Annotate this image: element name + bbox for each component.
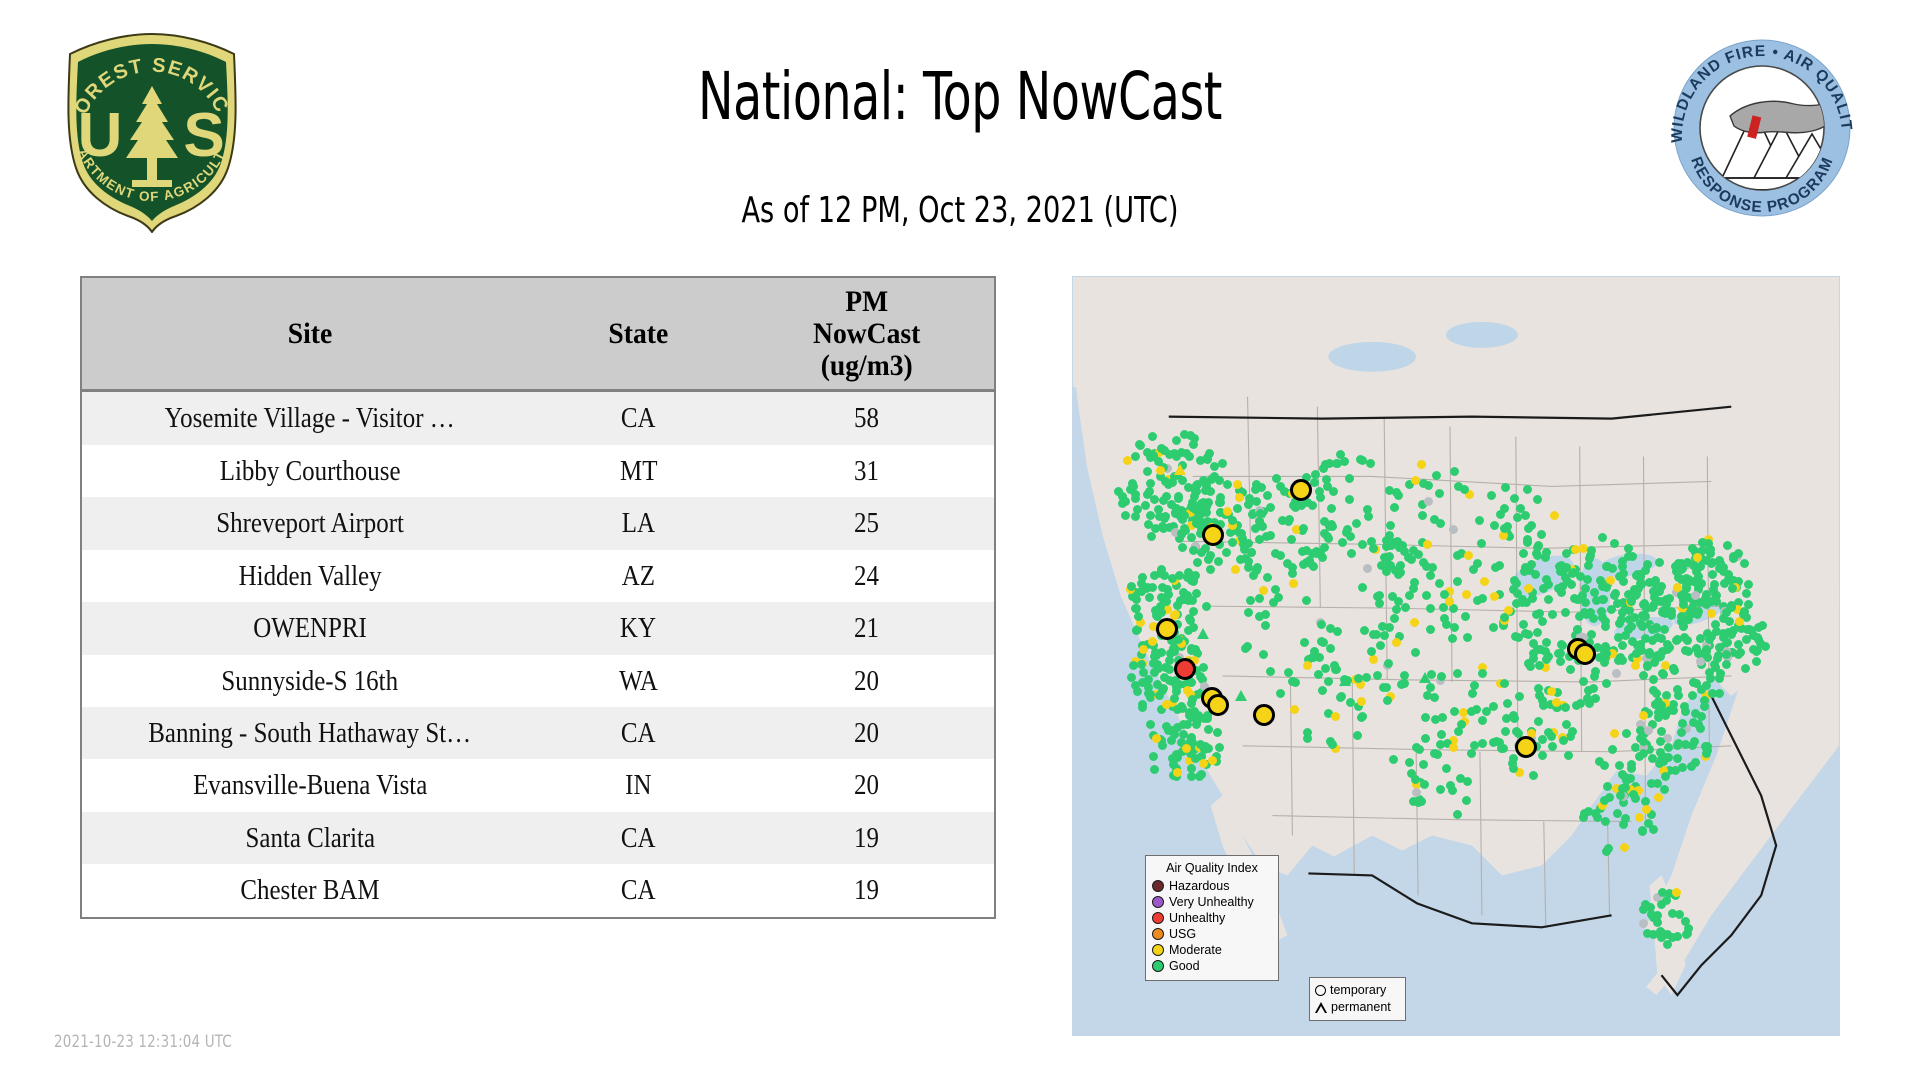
map-monitor-dot[interactable] (1618, 641, 1627, 650)
map-monitor-dot[interactable] (1356, 455, 1365, 464)
map-monitor-dot[interactable] (1511, 632, 1520, 641)
map-monitor-dot[interactable] (1537, 530, 1546, 539)
map-monitor-dot[interactable] (1420, 780, 1429, 789)
map-monitor-dot[interactable] (1744, 580, 1753, 589)
map-monitor-dot[interactable] (1246, 596, 1255, 605)
map-monitor-dot[interactable] (1615, 761, 1624, 770)
map-monitor-dot[interactable] (1137, 587, 1146, 596)
map-monitor-dot[interactable] (1256, 509, 1265, 518)
map-monitor-dot[interactable] (1319, 464, 1328, 473)
map-monitor-dot[interactable] (1158, 686, 1167, 695)
map-monitor-dot[interactable] (1327, 504, 1336, 513)
map-top-site-marker[interactable] (1290, 479, 1312, 501)
map-monitor-dot[interactable] (1255, 517, 1264, 526)
map-monitor-dot[interactable] (1696, 724, 1705, 733)
map-monitor-dot[interactable] (1510, 494, 1519, 503)
map-monitor-dot[interactable] (1183, 686, 1192, 695)
map-monitor-dot[interactable] (1390, 614, 1399, 623)
map-monitor-dot[interactable] (1478, 739, 1487, 748)
map-monitor-dot[interactable] (1376, 641, 1385, 650)
map-monitor-dot[interactable] (1618, 656, 1627, 665)
map-monitor-dot[interactable] (1662, 600, 1671, 609)
map-monitor-dot[interactable] (1715, 689, 1724, 698)
map-monitor-dot[interactable] (1585, 554, 1594, 563)
map-permanent-site-marker[interactable] (1197, 628, 1209, 639)
map-monitor-dot[interactable] (1213, 728, 1222, 737)
map-monitor-dot[interactable] (1422, 591, 1431, 600)
map-monitor-dot[interactable] (1195, 772, 1204, 781)
map-monitor-dot[interactable] (1187, 644, 1196, 653)
map-monitor-dot[interactable] (1712, 627, 1721, 636)
map-monitor-dot[interactable] (1129, 661, 1138, 670)
map-monitor-dot[interactable] (1214, 557, 1223, 566)
map-monitor-dot[interactable] (1193, 558, 1202, 567)
map-monitor-dot[interactable] (1139, 668, 1148, 677)
map-monitor-dot[interactable] (1538, 617, 1547, 626)
map-monitor-dot[interactable] (1369, 655, 1378, 664)
map-monitor-dot[interactable] (1690, 737, 1699, 746)
map-permanent-site-marker[interactable] (1174, 464, 1186, 475)
map-monitor-dot[interactable] (1397, 680, 1406, 689)
map-monitor-dot[interactable] (1521, 511, 1530, 520)
map-monitor-dot[interactable] (1206, 565, 1215, 574)
map-monitor-dot[interactable] (1643, 662, 1652, 671)
map-monitor-dot[interactable] (1391, 566, 1400, 575)
map-monitor-dot[interactable] (1674, 691, 1683, 700)
map-monitor-dot[interactable] (1208, 756, 1217, 765)
map-monitor-dot[interactable] (1535, 661, 1544, 670)
map-monitor-dot[interactable] (1624, 625, 1633, 634)
map-monitor-dot[interactable] (1524, 524, 1533, 533)
map-monitor-dot[interactable] (1138, 703, 1147, 712)
map-top-site-marker[interactable] (1174, 658, 1196, 680)
map-monitor-dot[interactable] (1630, 613, 1639, 622)
map-monitor-dot[interactable] (1421, 713, 1430, 722)
map-monitor-dot[interactable] (1255, 535, 1264, 544)
map-monitor-dot[interactable] (1329, 487, 1338, 496)
map-monitor-dot[interactable] (1571, 545, 1580, 554)
map-monitor-dot[interactable] (1734, 650, 1743, 659)
map-monitor-dot[interactable] (1291, 678, 1300, 687)
map-monitor-dot[interactable] (1500, 613, 1509, 622)
map-monitor-dot[interactable] (1729, 626, 1738, 635)
map-monitor-dot[interactable] (1602, 649, 1611, 658)
map-monitor-dot[interactable] (1345, 495, 1354, 504)
map-monitor-dot[interactable] (1336, 450, 1345, 459)
table-row[interactable]: Banning - South Hathaway St…CA20 (82, 707, 994, 759)
map-monitor-dot[interactable] (1712, 597, 1721, 606)
map-monitor-dot[interactable] (1249, 571, 1258, 580)
map-monitor-dot[interactable] (1202, 602, 1211, 611)
map-monitor-dot[interactable] (1411, 476, 1420, 485)
map-monitor-dot[interactable] (1619, 820, 1628, 829)
map-monitor-dot[interactable] (1619, 577, 1628, 586)
map-monitor-dot[interactable] (1649, 825, 1658, 834)
map-monitor-dot[interactable] (1722, 660, 1731, 669)
map-monitor-dot[interactable] (1148, 583, 1157, 592)
map-monitor-dot[interactable] (1289, 579, 1298, 588)
map-monitor-dot[interactable] (1655, 558, 1664, 567)
map-monitor-dot[interactable] (1509, 764, 1518, 773)
map-monitor-dot[interactable] (1567, 580, 1576, 589)
map-monitor-dot[interactable] (1473, 559, 1482, 568)
map-monitor-dot[interactable] (1665, 706, 1674, 715)
map-monitor-dot[interactable] (1554, 649, 1563, 658)
map-monitor-dot[interactable] (1369, 544, 1378, 553)
map-monitor-dot[interactable] (1499, 744, 1508, 753)
map-monitor-dot[interactable] (1173, 768, 1182, 777)
map-monitor-dot[interactable] (1461, 612, 1470, 621)
map-permanent-site-marker[interactable] (1339, 675, 1351, 686)
map-monitor-dot[interactable] (1259, 586, 1268, 595)
map-monitor-dot[interactable] (1255, 612, 1264, 621)
map-monitor-dot[interactable] (1705, 635, 1714, 644)
map-monitor-dot[interactable] (1263, 573, 1272, 582)
map-monitor-dot[interactable] (1144, 520, 1153, 529)
map-monitor-dot[interactable] (1179, 730, 1188, 739)
map-monitor-dot[interactable] (1714, 651, 1723, 660)
map-monitor-dot[interactable] (1426, 683, 1435, 692)
map-monitor-dot[interactable] (1463, 633, 1472, 642)
map-monitor-dot[interactable] (1314, 670, 1323, 679)
map-monitor-dot[interactable] (1677, 575, 1686, 584)
map-monitor-dot[interactable] (1495, 561, 1504, 570)
map-monitor-dot[interactable] (1467, 707, 1476, 716)
map-monitor-dot[interactable] (1228, 516, 1237, 525)
map-monitor-dot[interactable] (1139, 645, 1148, 654)
map-monitor-dot[interactable] (1457, 720, 1466, 729)
map-monitor-dot[interactable] (1600, 796, 1609, 805)
map-monitor-dot[interactable] (1561, 608, 1570, 617)
map-monitor-dot[interactable] (1342, 528, 1351, 537)
map-monitor-dot[interactable] (1176, 596, 1185, 605)
map-monitor-dot[interactable] (1158, 522, 1167, 531)
map-monitor-dot[interactable] (1619, 569, 1628, 578)
map-monitor-dot[interactable] (1410, 578, 1419, 587)
map-monitor-dot[interactable] (1448, 786, 1457, 795)
map-monitor-dot[interactable] (1432, 471, 1441, 480)
map-monitor-dot[interactable] (1639, 600, 1648, 609)
map-monitor-dot[interactable] (1178, 543, 1187, 552)
map-monitor-dot[interactable] (1170, 647, 1179, 656)
map-monitor-dot[interactable] (1468, 689, 1477, 698)
map-monitor-dot[interactable] (1525, 660, 1534, 669)
map-monitor-dot[interactable] (1316, 493, 1325, 502)
table-row[interactable]: Santa ClaritaCA19 (82, 812, 994, 864)
map-monitor-dot[interactable] (1621, 783, 1630, 792)
map-monitor-dot[interactable] (1442, 764, 1451, 773)
map-monitor-dot[interactable] (1244, 608, 1253, 617)
map-monitor-dot[interactable] (1128, 479, 1137, 488)
map-monitor-dot[interactable] (1559, 736, 1568, 745)
map-monitor-dot[interactable] (1627, 597, 1636, 606)
map-monitor-dot[interactable] (1207, 475, 1216, 484)
map-monitor-dot[interactable] (1639, 919, 1648, 928)
map-monitor-dot[interactable] (1727, 603, 1736, 612)
map-monitor-dot[interactable] (1635, 813, 1644, 822)
map-monitor-dot[interactable] (1707, 609, 1716, 618)
table-row[interactable]: Shreveport AirportLA25 (82, 497, 994, 549)
map-monitor-dot[interactable] (1552, 698, 1561, 707)
map-monitor-dot[interactable] (1436, 785, 1445, 794)
map-monitor-dot[interactable] (1331, 712, 1340, 721)
map-monitor-dot[interactable] (1276, 689, 1285, 698)
map-monitor-dot[interactable] (1626, 774, 1635, 783)
map-monitor-dot[interactable] (1386, 521, 1395, 530)
map-monitor-dot[interactable] (1648, 603, 1657, 612)
column-header-pm-nowcast[interactable]: PM NowCast (ug/m3) (739, 278, 994, 391)
map-monitor-dot[interactable] (1174, 492, 1183, 501)
map-monitor-dot[interactable] (1326, 644, 1335, 653)
map-monitor-dot[interactable] (1602, 562, 1611, 571)
map-monitor-dot[interactable] (1453, 577, 1462, 586)
map-monitor-dot[interactable] (1503, 522, 1512, 531)
map-monitor-dot[interactable] (1547, 732, 1556, 741)
map-monitor-dot[interactable] (1673, 932, 1682, 941)
map-monitor-dot[interactable] (1710, 660, 1719, 669)
map-monitor-dot[interactable] (1159, 595, 1168, 604)
map-top-site-marker[interactable] (1156, 618, 1178, 640)
map-monitor-dot[interactable] (1160, 514, 1169, 523)
map-monitor-dot[interactable] (1729, 552, 1738, 561)
map-monitor-dot[interactable] (1362, 673, 1371, 682)
map-monitor-dot[interactable] (1405, 758, 1414, 767)
map-top-site-marker[interactable] (1207, 694, 1229, 716)
map-monitor-dot[interactable] (1435, 579, 1444, 588)
map-top-site-marker[interactable] (1253, 704, 1275, 726)
map-monitor-dot[interactable] (1462, 796, 1471, 805)
map-monitor-dot[interactable] (1622, 729, 1631, 738)
map-monitor-dot[interactable] (1677, 565, 1686, 574)
map-monitor-dot[interactable] (1639, 671, 1648, 680)
map-monitor-dot[interactable] (1223, 480, 1232, 489)
map-monitor-dot[interactable] (1150, 571, 1159, 580)
map-monitor-dot[interactable] (1149, 752, 1158, 761)
map-monitor-dot[interactable] (1659, 670, 1668, 679)
map-top-site-marker[interactable] (1202, 524, 1224, 546)
map-monitor-dot[interactable] (1595, 757, 1604, 766)
map-monitor-dot[interactable] (1206, 551, 1215, 560)
map-monitor-dot[interactable] (1146, 690, 1155, 699)
map-monitor-dot[interactable] (1161, 477, 1170, 486)
map-monitor-dot[interactable] (1410, 618, 1419, 627)
map-monitor-dot[interactable] (1303, 728, 1312, 737)
map-monitor-dot[interactable] (1450, 623, 1459, 632)
map-monitor-dot[interactable] (1132, 626, 1141, 635)
map-monitor-dot[interactable] (1599, 595, 1608, 604)
column-header-site[interactable]: Site (82, 278, 538, 391)
map-monitor-dot[interactable] (1148, 432, 1157, 441)
map-monitor-dot[interactable] (1306, 559, 1315, 568)
map-monitor-dot[interactable] (1332, 459, 1341, 468)
map-monitor-dot[interactable] (1392, 638, 1401, 647)
map-monitor-dot[interactable] (1263, 491, 1272, 500)
map-monitor-dot[interactable] (1338, 538, 1347, 547)
map-monitor-dot[interactable] (1163, 585, 1172, 594)
map-monitor-dot[interactable] (1453, 551, 1462, 560)
map-monitor-dot[interactable] (1708, 570, 1717, 579)
map-monitor-dot[interactable] (1456, 774, 1465, 783)
map-monitor-dot[interactable] (1664, 743, 1673, 752)
map-monitor-dot[interactable] (1649, 675, 1658, 684)
map-monitor-dot[interactable] (1424, 497, 1433, 506)
map-monitor-dot[interactable] (1127, 673, 1136, 682)
map-monitor-dot[interactable] (1392, 488, 1401, 497)
map-monitor-dot[interactable] (1602, 847, 1611, 856)
map-monitor-dot[interactable] (1421, 734, 1430, 743)
map-monitor-dot[interactable] (1673, 754, 1682, 763)
map-monitor-dot[interactable] (1681, 740, 1690, 749)
map-monitor-dot[interactable] (1215, 498, 1224, 507)
map-monitor-dot[interactable] (1326, 737, 1335, 746)
map-monitor-dot[interactable] (1131, 512, 1140, 521)
map-top-site-marker[interactable] (1574, 643, 1596, 665)
map-monitor-dot[interactable] (1564, 751, 1573, 760)
map-monitor-dot[interactable] (1561, 573, 1570, 582)
map-monitor-dot[interactable] (1533, 495, 1542, 504)
map-monitor-dot[interactable] (1299, 524, 1308, 533)
map-monitor-dot[interactable] (1612, 669, 1621, 678)
map-monitor-dot[interactable] (1389, 755, 1398, 764)
map-monitor-dot[interactable] (1382, 683, 1391, 692)
map-monitor-dot[interactable] (1247, 548, 1256, 557)
map-monitor-dot[interactable] (1162, 492, 1171, 501)
map-monitor-dot[interactable] (1608, 745, 1617, 754)
map-top-site-marker[interactable] (1515, 736, 1537, 758)
map-monitor-dot[interactable] (1672, 888, 1681, 897)
map-monitor-dot[interactable] (1529, 771, 1538, 780)
map-monitor-dot[interactable] (1436, 519, 1445, 528)
map-monitor-dot[interactable] (1383, 696, 1392, 705)
map-monitor-dot[interactable] (1417, 460, 1426, 469)
map-monitor-dot[interactable] (1615, 619, 1624, 628)
map-monitor-dot[interactable] (1715, 674, 1724, 683)
table-row[interactable]: OWENPRIKY21 (82, 602, 994, 654)
map-monitor-dot[interactable] (1426, 604, 1435, 613)
map-monitor-dot[interactable] (1435, 489, 1444, 498)
table-row[interactable]: Libby CourthouseMT31 (82, 445, 994, 497)
map-permanent-site-marker[interactable] (1419, 672, 1431, 683)
map-monitor-dot[interactable] (1539, 701, 1548, 710)
map-monitor-dot[interactable] (1419, 760, 1428, 769)
map-monitor-dot[interactable] (1428, 563, 1437, 572)
map-monitor-dot[interactable] (1464, 551, 1473, 560)
map-monitor-dot[interactable] (1637, 580, 1646, 589)
map-monitor-dot[interactable] (1688, 603, 1697, 612)
map-monitor-dot[interactable] (1437, 730, 1446, 739)
map-monitor-dot[interactable] (1132, 595, 1141, 604)
map-monitor-dot[interactable] (1189, 607, 1198, 616)
table-row[interactable]: Chester BAMCA19 (82, 864, 994, 916)
map-monitor-dot[interactable] (1629, 790, 1638, 799)
map-monitor-dot[interactable] (1611, 589, 1620, 598)
map-monitor-dot[interactable] (1358, 540, 1367, 549)
table-row[interactable]: Sunnyside-S 16thWA20 (82, 655, 994, 707)
map-monitor-dot[interactable] (1173, 723, 1182, 732)
map-monitor-dot[interactable] (1284, 668, 1293, 677)
map-monitor-dot[interactable] (1388, 592, 1397, 601)
map-monitor-dot[interactable] (1204, 725, 1213, 734)
map-monitor-dot[interactable] (1430, 749, 1439, 758)
map-monitor-dot[interactable] (1369, 630, 1378, 639)
map-monitor-dot[interactable] (1146, 479, 1155, 488)
map-monitor-dot[interactable] (1290, 705, 1299, 714)
map-monitor-dot[interactable] (1330, 661, 1339, 670)
column-header-state[interactable]: State (538, 278, 739, 391)
map-monitor-dot[interactable] (1639, 711, 1648, 720)
map-monitor-dot[interactable] (1373, 671, 1382, 680)
map-monitor-dot[interactable] (1633, 570, 1642, 579)
map-monitor-dot[interactable] (1627, 764, 1636, 773)
map-monitor-dot[interactable] (1653, 911, 1662, 920)
map-monitor-dot[interactable] (1515, 692, 1524, 701)
map-monitor-dot[interactable] (1694, 649, 1703, 658)
map-monitor-dot[interactable] (1138, 573, 1147, 582)
map-permanent-site-marker[interactable] (1235, 690, 1247, 701)
map-monitor-dot[interactable] (1440, 614, 1449, 623)
map-monitor-dot[interactable] (1706, 674, 1715, 683)
map-monitor-dot[interactable] (1490, 521, 1499, 530)
map-monitor-dot[interactable] (1393, 537, 1402, 546)
map-monitor-dot[interactable] (1656, 652, 1665, 661)
map-monitor-dot[interactable] (1579, 677, 1588, 686)
map-monitor-dot[interactable] (1489, 623, 1498, 632)
map-monitor-dot[interactable] (1706, 545, 1715, 554)
map-monitor-dot[interactable] (1145, 593, 1154, 602)
map-monitor-dot[interactable] (1132, 604, 1141, 613)
map-monitor-dot[interactable] (1287, 535, 1296, 544)
map-monitor-dot[interactable] (1147, 532, 1156, 541)
map-monitor-dot[interactable] (1641, 634, 1650, 643)
map-monitor-dot[interactable] (1741, 664, 1750, 673)
map-monitor-dot[interactable] (1675, 910, 1684, 919)
map-monitor-dot[interactable] (1587, 630, 1596, 639)
map-monitor-dot[interactable] (1380, 631, 1389, 640)
map-monitor-dot[interactable] (1131, 490, 1140, 499)
map-monitor-dot[interactable] (1693, 553, 1702, 562)
map-monitor-dot[interactable] (1145, 487, 1154, 496)
table-row[interactable]: Hidden ValleyAZ24 (82, 550, 994, 602)
map-monitor-dot[interactable] (1487, 491, 1496, 500)
map-monitor-dot[interactable] (1162, 700, 1171, 709)
map-monitor-dot[interactable] (1601, 622, 1610, 631)
map-monitor-dot[interactable] (1266, 667, 1275, 676)
map-monitor-dot[interactable] (1375, 599, 1384, 608)
map-monitor-dot[interactable] (1186, 616, 1195, 625)
map-monitor-dot[interactable] (1661, 772, 1670, 781)
map-monitor-dot[interactable] (1188, 596, 1197, 605)
map-monitor-dot[interactable] (1146, 720, 1155, 729)
map-monitor-dot[interactable] (1477, 539, 1486, 548)
map-monitor-dot[interactable] (1503, 699, 1512, 708)
table-row[interactable]: Evansville-Buena VistaIN20 (82, 759, 994, 811)
map-monitor-dot[interactable] (1696, 657, 1705, 666)
map-monitor-dot[interactable] (1524, 584, 1533, 593)
map-monitor-dot[interactable] (1697, 712, 1706, 721)
map-monitor-dot[interactable] (1681, 917, 1690, 926)
map-monitor-dot[interactable] (1683, 929, 1692, 938)
aqi-monitor-map[interactable]: Air Quality Index HazardousVery Unhealth… (1072, 276, 1840, 1036)
map-monitor-dot[interactable] (1154, 505, 1163, 514)
map-monitor-dot[interactable] (1723, 541, 1732, 550)
map-monitor-dot[interactable] (1233, 504, 1242, 513)
map-monitor-dot[interactable] (1703, 746, 1712, 755)
map-monitor-dot[interactable] (1548, 610, 1557, 619)
map-monitor-dot[interactable] (1366, 459, 1375, 468)
map-monitor-dot[interactable] (1150, 652, 1159, 661)
map-monitor-dot[interactable] (1453, 810, 1462, 819)
map-monitor-dot[interactable] (1681, 707, 1690, 716)
